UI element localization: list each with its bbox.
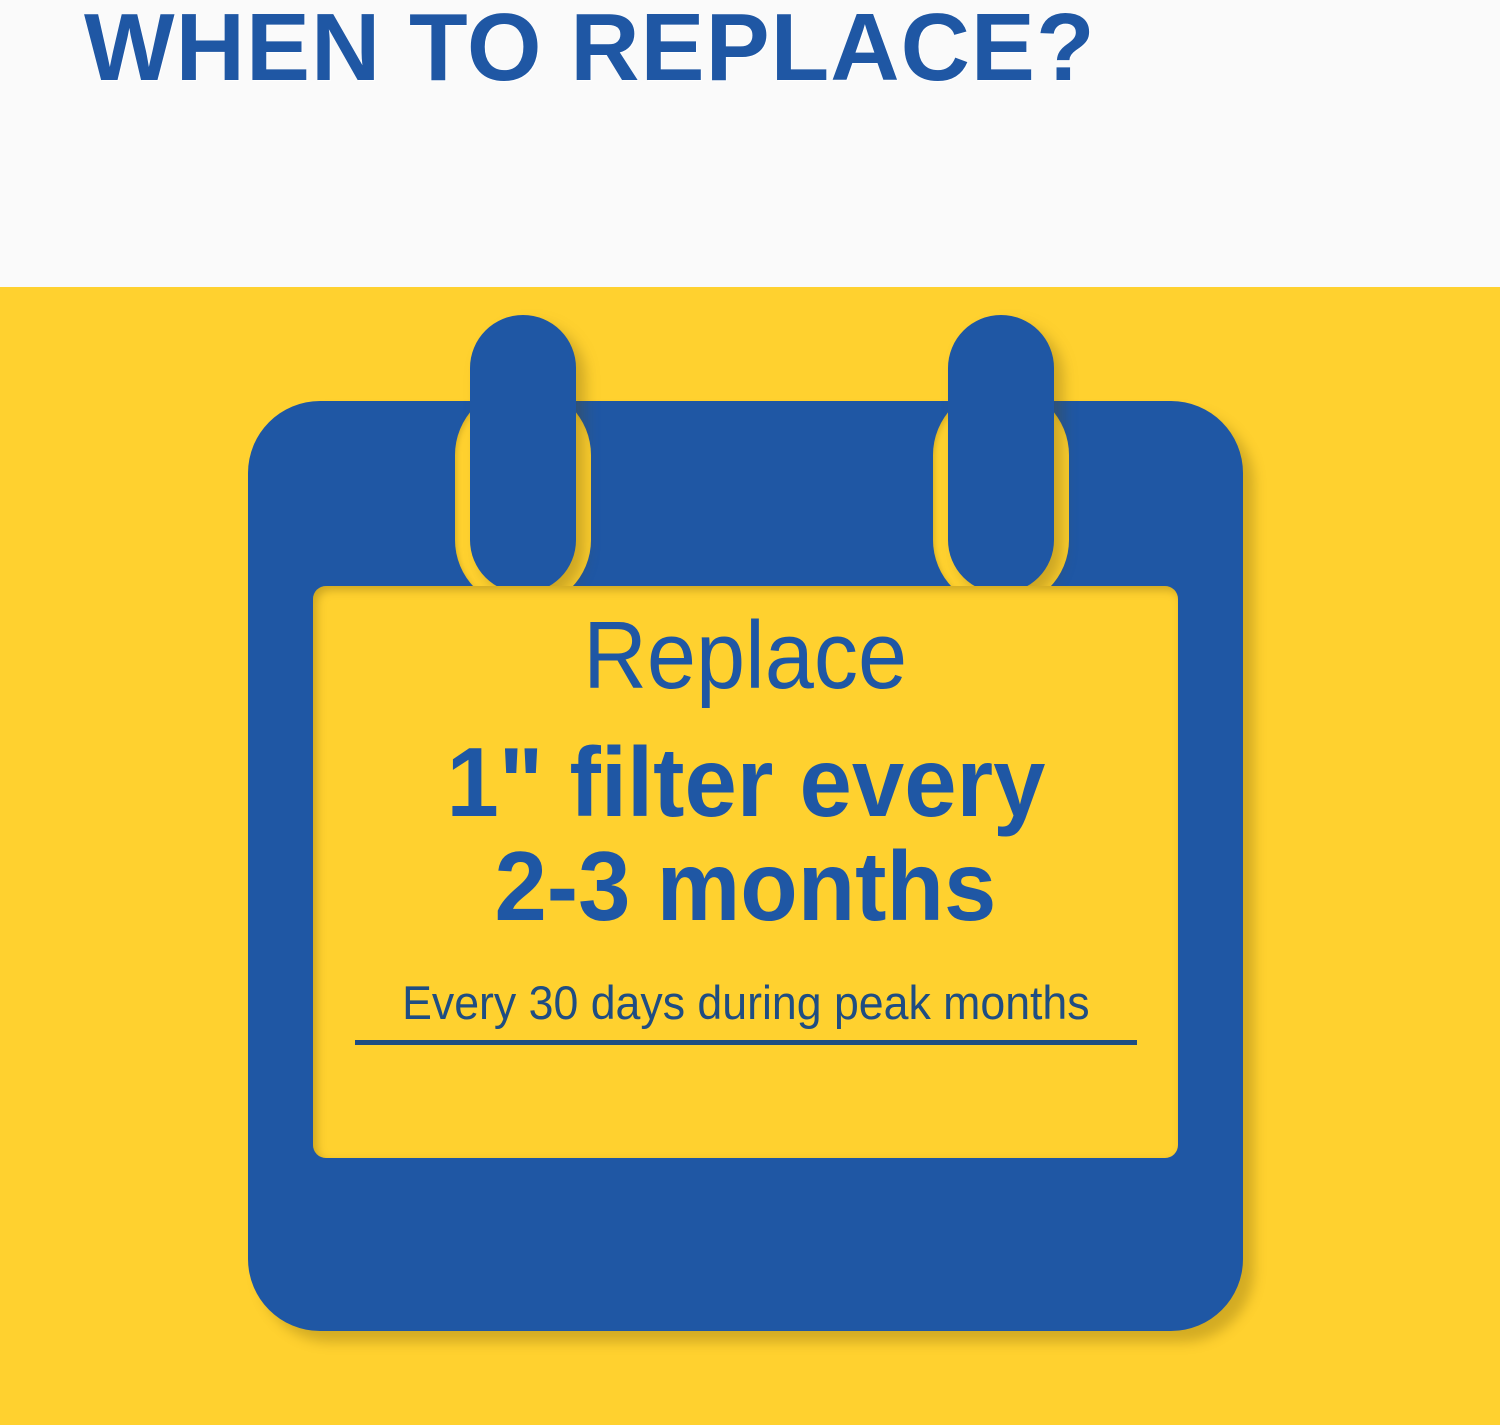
infographic-page: WHEN TO REPLACE? Replace 1" filter every… [0, 0, 1500, 1425]
calendar-icon: Replace 1" filter every 2-3 months Every… [248, 315, 1248, 1340]
calendar-page-subtitle: Every 30 days during peak months [402, 976, 1090, 1030]
page-title: WHEN TO REPLACE? [84, 0, 1204, 100]
calendar-page-subtitle-underline [355, 1040, 1137, 1045]
calendar-page-main-line-2: 2-3 months [495, 834, 997, 938]
calendar-page: Replace 1" filter every 2-3 months Every… [313, 586, 1178, 1158]
calendar-ring-right [948, 315, 1054, 593]
calendar-ring-left [470, 315, 576, 593]
yellow-panel: Replace 1" filter every 2-3 months Every… [0, 287, 1500, 1425]
calendar-page-heading: Replace [583, 602, 907, 710]
calendar-page-main-line-1: 1" filter every [446, 730, 1045, 834]
header-band: WHEN TO REPLACE? [0, 0, 1500, 287]
